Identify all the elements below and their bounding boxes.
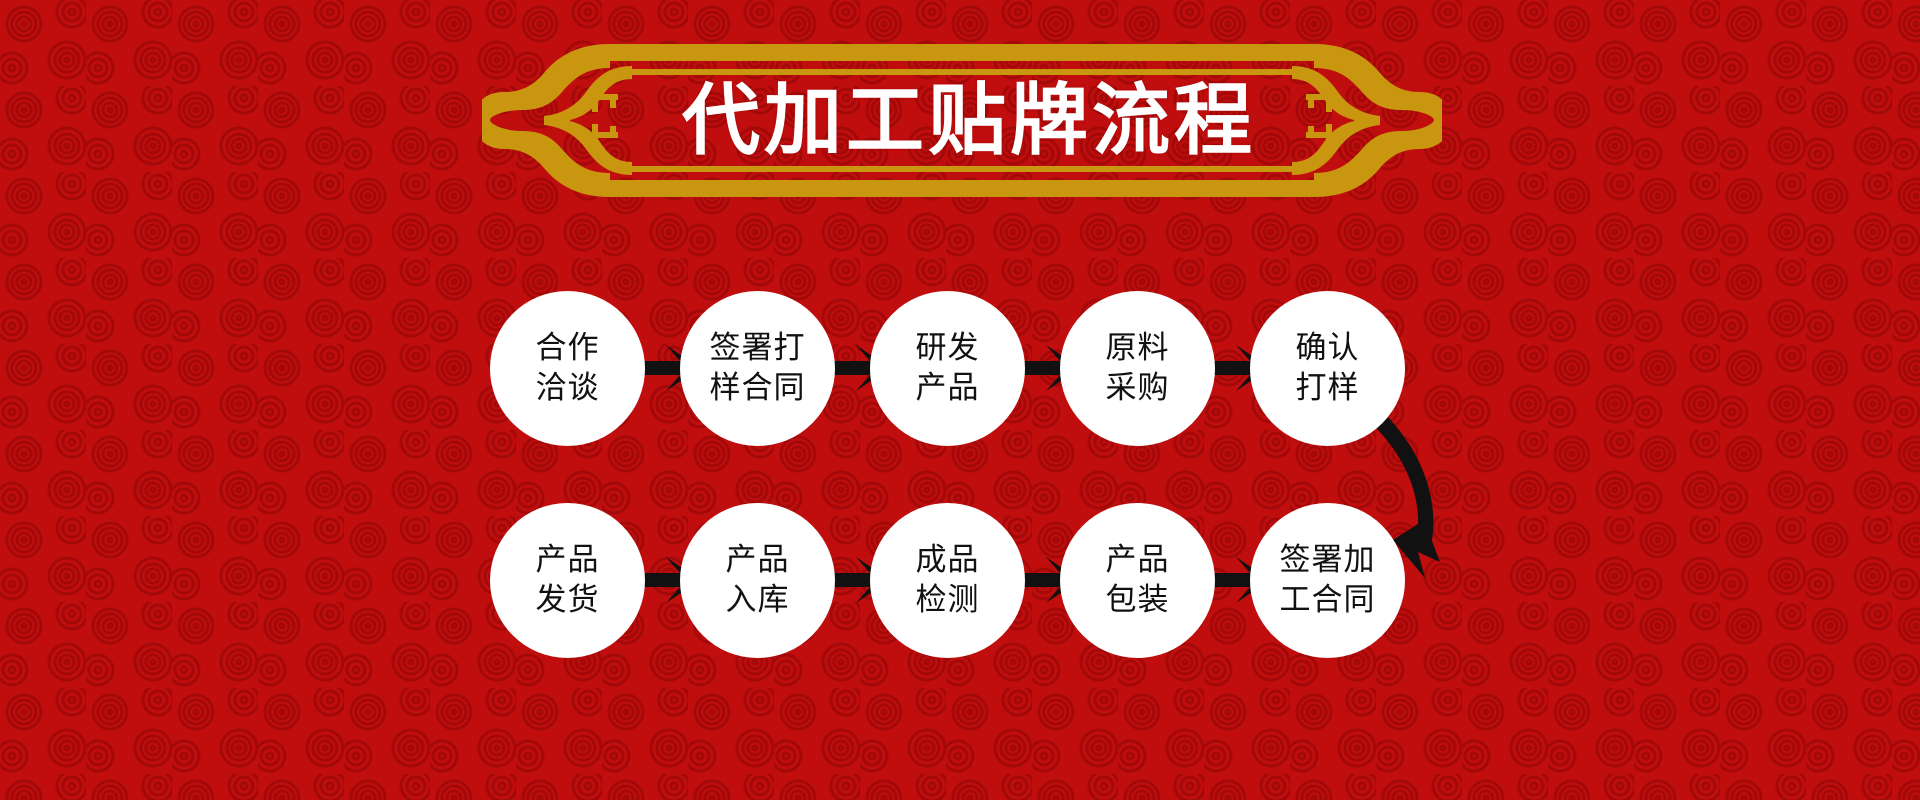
node-line: 签署加	[1280, 541, 1376, 581]
flow-node-step-4[interactable]: 原料 采购	[1060, 291, 1215, 446]
node-line: 洽谈	[536, 369, 600, 409]
flow-node-step-1[interactable]: 合作 洽谈	[490, 291, 645, 446]
title-banner: 代加工贴牌流程	[482, 38, 1442, 203]
flow-node-step-5[interactable]: 确认 打样	[1250, 291, 1405, 446]
node-line: 打样	[1296, 369, 1360, 409]
node-line: 包装	[1106, 581, 1170, 621]
node-line: 确认	[1296, 329, 1360, 369]
node-line: 采购	[1106, 369, 1170, 409]
node-line: 工合同	[1280, 581, 1376, 621]
node-line: 样合同	[710, 369, 806, 409]
node-line: 签署打	[710, 329, 806, 369]
flow-node-step-10[interactable]: 产品 发货	[490, 503, 645, 658]
flow-node-step-7[interactable]: 产品 包装	[1060, 503, 1215, 658]
node-line: 合作	[536, 329, 600, 369]
page-title: 代加工贴牌流程	[482, 38, 1442, 203]
node-line: 产品	[916, 369, 980, 409]
node-line: 检测	[916, 581, 980, 621]
flow-node-step-9[interactable]: 产品 入库	[680, 503, 835, 658]
node-line: 产品	[1106, 541, 1170, 581]
node-line: 产品	[726, 541, 790, 581]
flow-node-step-8[interactable]: 成品 检测	[870, 503, 1025, 658]
flow-node-step-6[interactable]: 签署加 工合同	[1250, 503, 1405, 658]
flow-node-step-2[interactable]: 签署打 样合同	[680, 291, 835, 446]
node-line: 入库	[726, 581, 790, 621]
node-line: 成品	[916, 541, 980, 581]
node-line: 发货	[536, 581, 600, 621]
node-line: 产品	[536, 541, 600, 581]
flow-node-step-3[interactable]: 研发 产品	[870, 291, 1025, 446]
node-line: 原料	[1106, 329, 1170, 369]
node-line: 研发	[916, 329, 980, 369]
